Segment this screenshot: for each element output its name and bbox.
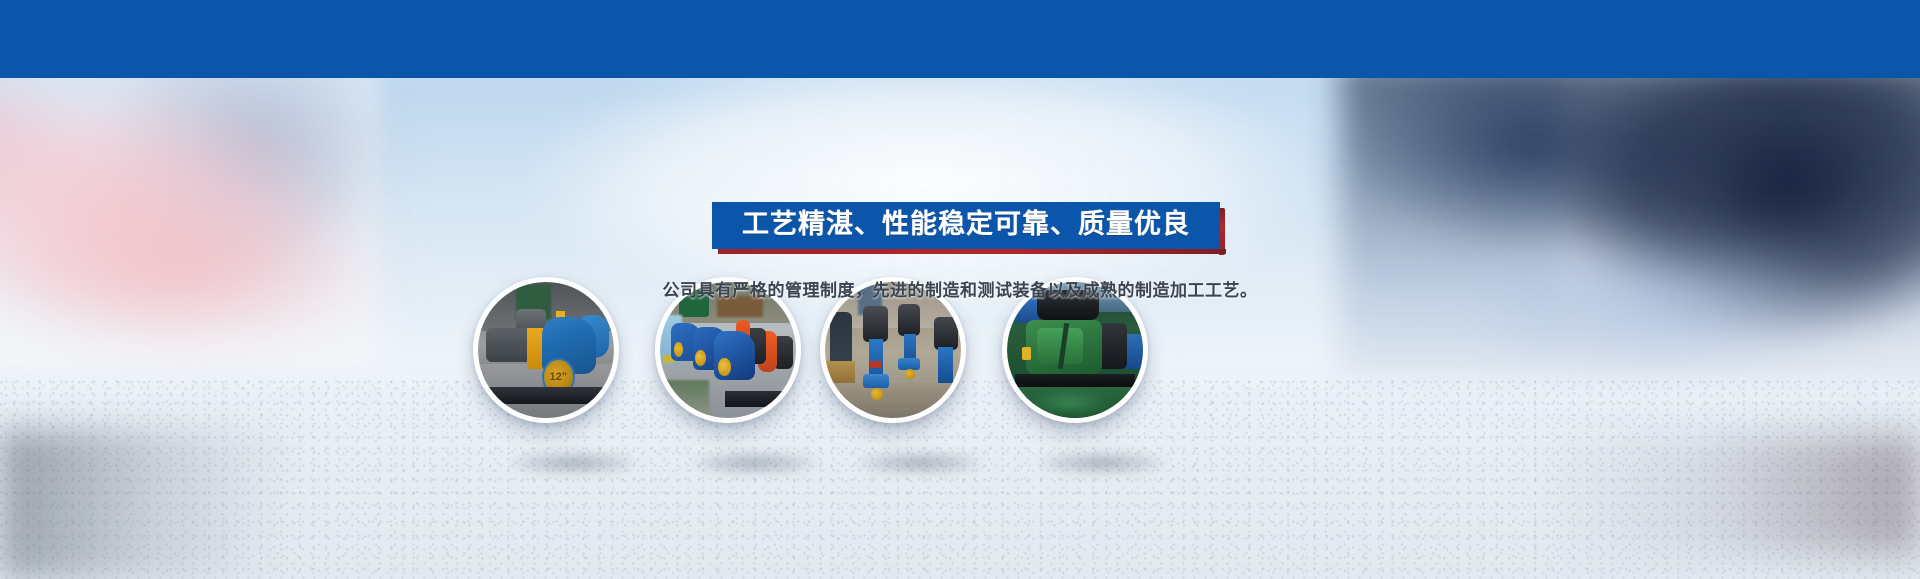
photo-shadow-1 bbox=[510, 452, 636, 474]
photo-image-2 bbox=[660, 282, 796, 418]
headline-accent-bottom bbox=[718, 249, 1226, 254]
headline-text: 工艺精湛、性能稳定可靠、质量优良 bbox=[742, 211, 1190, 238]
hero-banner: 12" bbox=[0, 0, 1920, 579]
photo-shadow-2 bbox=[692, 452, 818, 474]
photo-image-4 bbox=[1007, 282, 1143, 418]
headline-banner: 工艺精湛、性能稳定可靠、质量优良 bbox=[712, 202, 1220, 249]
headline-box: 工艺精湛、性能稳定可靠、质量优良 bbox=[712, 202, 1220, 249]
photo-shadow-4 bbox=[1039, 452, 1165, 474]
hero-subtitle: 公司具有严格的管理制度，先进的制造和测试装备以及成熟的制造加工工艺。 bbox=[0, 276, 1920, 301]
photo-image-3 bbox=[825, 282, 961, 418]
photo-image-1: 12" bbox=[478, 282, 614, 418]
photo-shadow-3 bbox=[857, 452, 983, 474]
